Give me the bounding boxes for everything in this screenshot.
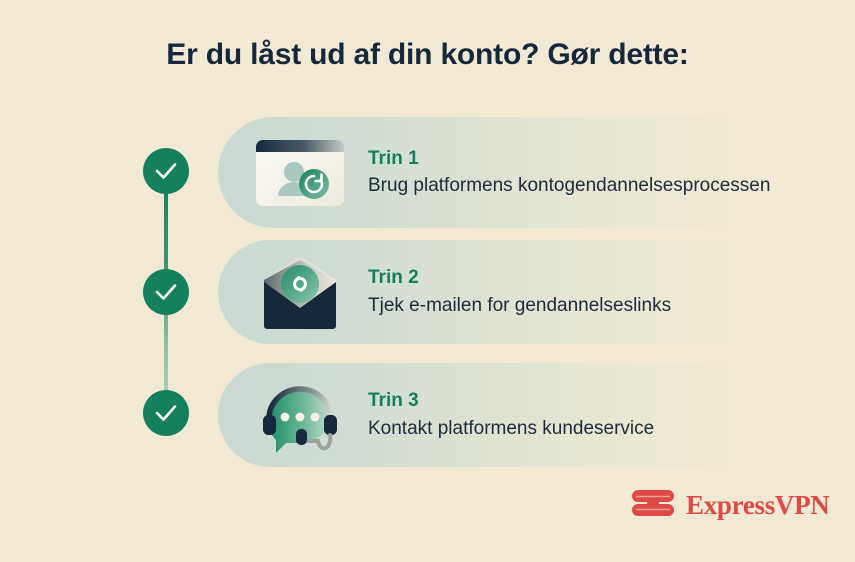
page-title: Er du låst ud af din konto? Gør dette: [0,38,855,72]
step-text-3: Trin 3 Kontakt platformens kundeservice [368,389,654,441]
timeline [143,148,189,440]
step-description-3: Kontakt platformens kundeservice [368,416,654,441]
step-card-2: Trin 2 Tjek e-mailen for gendannelseslin… [218,240,778,344]
timeline-marker-step-2 [143,269,189,315]
step-text-2: Trin 2 Tjek e-mailen for gendannelseslin… [368,266,671,318]
step-label-2: Trin 2 [368,266,671,290]
step-description-2: Tjek e-mailen for gendannelseslinks [368,293,671,318]
infographic-canvas: Er du låst ud af din konto? Gør dette: [0,0,855,562]
step-label-3: Trin 3 [368,389,654,413]
expressvpn-logo: ExpressVPN [630,484,830,527]
step-card-1: Trin 1 Brug platformens kontogendannelse… [218,117,778,228]
step-card-3: Trin 3 Kontakt platformens kundeservice [218,363,778,467]
support-headset-chat-icon [248,372,352,458]
timeline-marker-step-3 [143,390,189,436]
account-recovery-window-icon [248,130,352,216]
step-description-1: Brug platformens kontogendannelsesproces… [368,173,770,198]
step-label-1: Trin 1 [368,147,770,171]
expressvpn-wordmark: ExpressVPN [686,490,830,521]
email-link-icon [248,249,352,335]
timeline-marker-step-1 [143,148,189,194]
expressvpn-e-mark-icon [630,484,676,527]
step-text-1: Trin 1 Brug platformens kontogendannelse… [368,147,770,199]
